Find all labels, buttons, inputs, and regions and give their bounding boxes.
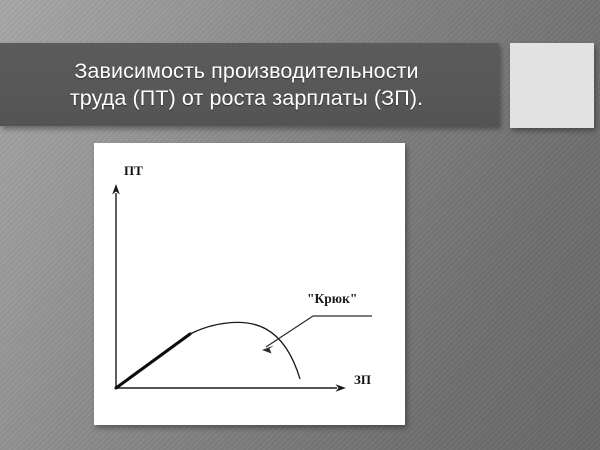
- x-axis-label: ЗП: [354, 372, 371, 387]
- corner-placeholder-panel: [510, 43, 594, 128]
- chart-container: ПТ ЗП "Крюк": [94, 143, 405, 425]
- x-axis: [116, 384, 346, 392]
- x-axis-arrowhead: [336, 384, 347, 392]
- y-axis-arrowhead: [112, 184, 120, 195]
- annotation-leader: [262, 316, 372, 354]
- series-hook-curve: [190, 322, 300, 379]
- series-linear-growth: [116, 334, 190, 388]
- y-axis: [112, 184, 120, 388]
- slide-title-bar: Зависимость производительности труда (ПТ…: [0, 43, 499, 126]
- page-title: Зависимость производительности труда (ПТ…: [70, 58, 423, 111]
- annotation-arrowhead: [262, 346, 274, 354]
- y-axis-label: ПТ: [124, 163, 143, 178]
- chart-svg: ПТ ЗП "Крюк": [94, 143, 405, 425]
- slide-canvas: Зависимость производительности труда (ПТ…: [0, 0, 600, 450]
- annotation-label-hook: "Крюк": [307, 291, 357, 306]
